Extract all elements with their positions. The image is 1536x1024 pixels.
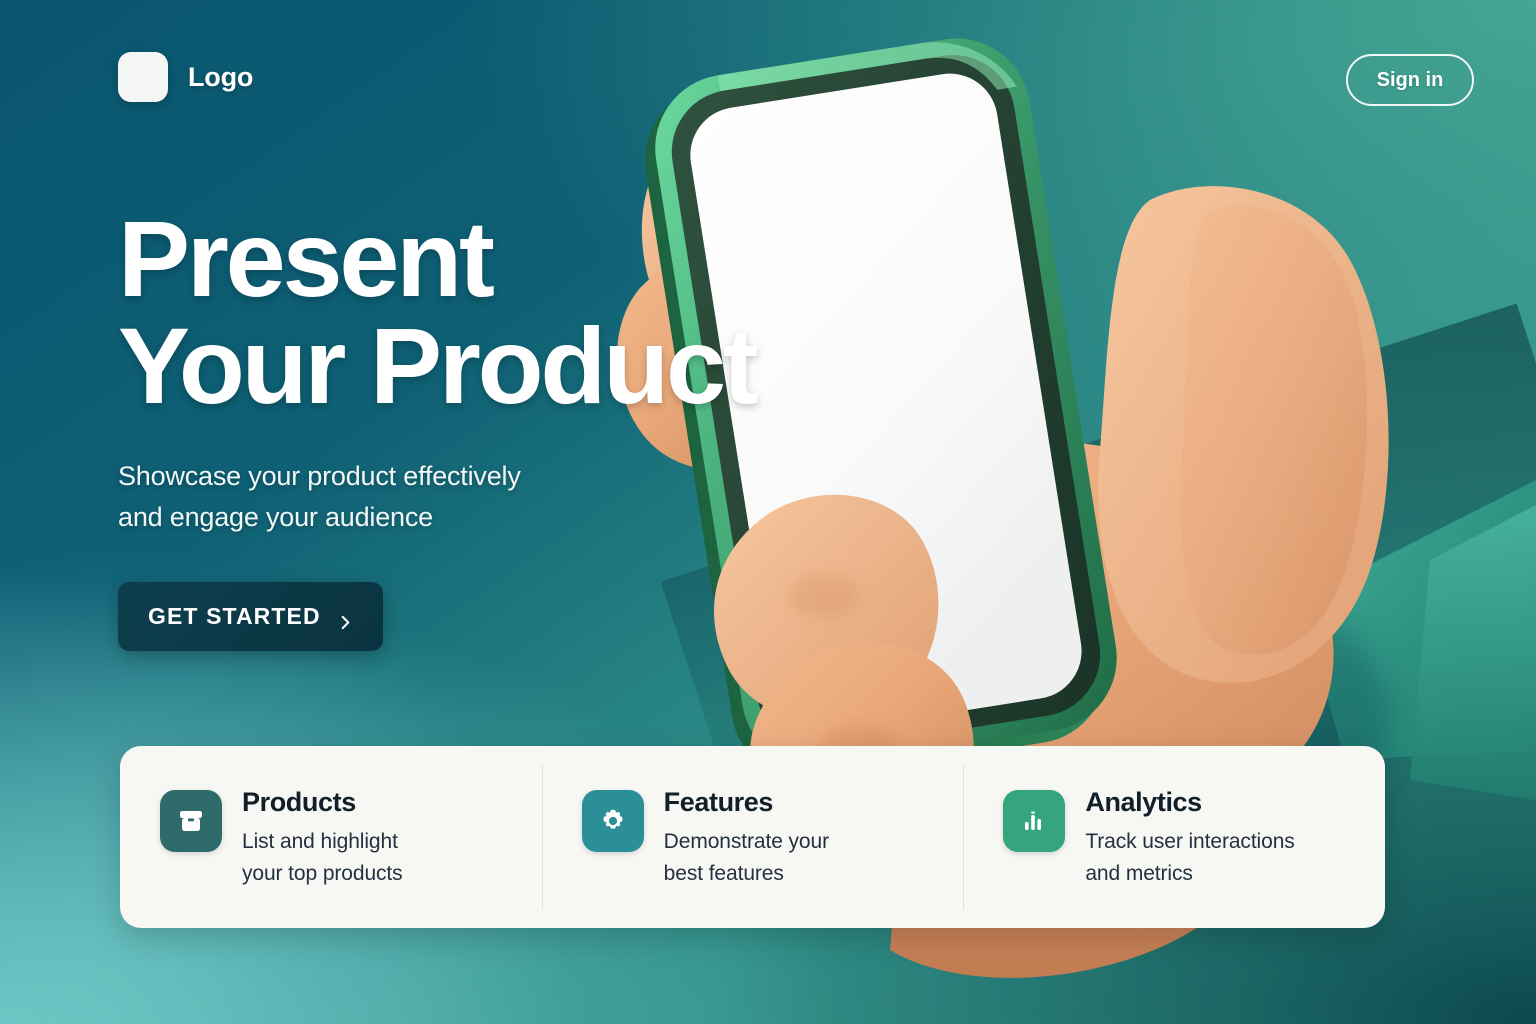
brand-name: Logo [188, 62, 253, 93]
hero-subtitle: Showcase your product effectively and en… [118, 456, 778, 538]
bar-chart-icon [1003, 790, 1065, 852]
feature-item-analytics[interactable]: Analytics Track user interactions and me… [963, 746, 1385, 928]
feature-description: Track user interactions and metrics [1085, 826, 1294, 891]
logo-mark-icon [118, 52, 168, 102]
page-title: Present Your Product [118, 206, 778, 420]
get-started-label: GET STARTED [148, 603, 321, 630]
feature-text-products: Products List and highlight your top pro… [242, 788, 403, 891]
feature-text-analytics: Analytics Track user interactions and me… [1085, 788, 1294, 891]
feature-description: Demonstrate your best features [664, 826, 829, 891]
get-started-button[interactable]: GET STARTED [118, 582, 383, 651]
hero-page: Logo Sign in Present Your Product Showca… [0, 0, 1536, 1024]
gear-icon [582, 790, 644, 852]
brand[interactable]: Logo [118, 52, 253, 102]
feature-card-bar: Products List and highlight your top pro… [120, 746, 1385, 928]
feature-description: List and highlight your top products [242, 826, 403, 891]
feature-item-features[interactable]: Features Demonstrate your best features [542, 746, 964, 928]
feature-title: Analytics [1085, 788, 1294, 818]
hero-section: Present Your Product Showcase your produ… [118, 206, 778, 651]
feature-item-products[interactable]: Products List and highlight your top pro… [120, 746, 542, 928]
page-header: Logo Sign in [0, 0, 1536, 160]
box-archive-icon [160, 790, 222, 852]
feature-title: Products [242, 788, 403, 818]
feature-text-features: Features Demonstrate your best features [664, 788, 829, 891]
feature-title: Features [664, 788, 829, 818]
chevron-right-icon [338, 609, 353, 624]
sign-in-button[interactable]: Sign in [1346, 54, 1474, 106]
